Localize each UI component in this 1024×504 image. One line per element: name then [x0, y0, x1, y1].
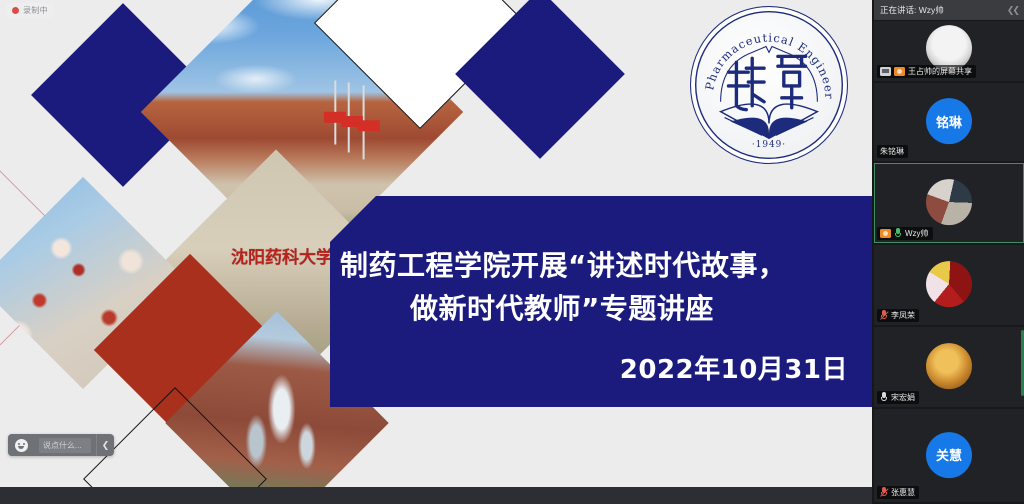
participant-name: 宋宏娟: [891, 392, 915, 403]
screen-share-icon: [880, 67, 891, 76]
participant-tile-songhongjuan[interactable]: 宋宏娟: [874, 327, 1024, 407]
shared-screen-area[interactable]: 沈阳药科大学 制药工程学院开展“讲述时代故事， 做新时代教师”专题讲座: [0, 0, 872, 504]
bottom-toolbar-strip: [0, 487, 872, 504]
participant-name-chip: Wzy帅: [877, 227, 933, 240]
participant-name-chip: 朱铭琳: [877, 145, 908, 158]
microphone-muted-icon: [880, 310, 888, 321]
avatar: [926, 179, 972, 225]
participant-name: 王占帅的屏幕共享: [908, 66, 972, 77]
participant-name-chip: 王占帅的屏幕共享: [877, 65, 976, 78]
participant-name: 张惠慧: [891, 487, 915, 498]
participant-tile-wzy[interactable]: Wzy帅: [874, 163, 1024, 243]
seal-arc-text: Pharmaceutical Engineering College: [691, 7, 836, 100]
host-badge-icon: [894, 67, 905, 76]
participant-tile-zhuminglin[interactable]: 铭琳 朱铭琳: [874, 83, 1024, 161]
participant-name: 李凤荣: [891, 310, 915, 321]
recording-indicator[interactable]: 录制中: [6, 3, 54, 18]
avatar: 关慧: [926, 432, 972, 478]
participant-tile-screenshare[interactable]: 王占帅的屏幕共享: [874, 21, 1024, 81]
participant-name: 朱铭琳: [880, 146, 904, 157]
avatar-initials: 铭琳: [926, 98, 972, 144]
slide-title-line-1: 制药工程学院开展“讲述时代故事，: [340, 244, 786, 284]
participant-name-chip: 李凤荣: [877, 309, 919, 322]
avatar: [926, 261, 972, 307]
participant-tile-lifengrong[interactable]: 李凤荣: [874, 245, 1024, 325]
recording-label: 录制中: [23, 5, 48, 16]
avatar: 铭琳: [926, 98, 972, 144]
college-seal-logo: Pharmaceutical Engineering College: [690, 6, 848, 164]
participant-name: Wzy帅: [905, 228, 929, 239]
participant-tile-zhanghuihui[interactable]: 关慧 张惠慧: [874, 409, 1024, 502]
chevron-left-icon[interactable]: ❮: [96, 434, 114, 456]
chat-input[interactable]: [39, 438, 91, 453]
active-speaker-label: 正在讲话: Wzy帅: [880, 4, 944, 16]
seal-year: ·1949·: [752, 140, 786, 150]
microphone-muted-icon: [880, 487, 888, 498]
participant-sidebar[interactable]: 正在讲话: Wzy帅 ❮❮ 王占帅的屏幕共享 铭琳 朱铭琳: [872, 0, 1024, 504]
seal-artwork: Pharmaceutical Engineering College: [691, 7, 847, 163]
participant-name-chip: 张惠慧: [877, 486, 919, 499]
slide-title-banner: 制药工程学院开展“讲述时代故事， 做新时代教师”专题讲座 2022年10月31日: [330, 196, 872, 407]
presentation-slide: 沈阳药科大学 制药工程学院开展“讲述时代故事， 做新时代教师”专题讲座: [0, 0, 872, 487]
microphone-on-icon: [894, 228, 902, 239]
chevron-collapse-icon[interactable]: ❮❮: [1007, 5, 1018, 16]
meeting-window: 沈阳药科大学 制药工程学院开展“讲述时代故事， 做新时代教师”专题讲座: [0, 0, 1024, 504]
avatar-initials: 关慧: [926, 432, 972, 478]
microphone-off-icon: [880, 392, 888, 403]
record-dot-icon: [12, 7, 19, 14]
avatar: [926, 25, 972, 71]
slide-date: 2022年10月31日: [620, 349, 848, 386]
sign-text: 沈阳药科大学: [231, 243, 333, 268]
avatar: [926, 343, 972, 389]
smiley-icon[interactable]: [8, 434, 34, 456]
active-speaker-bar: 正在讲话: Wzy帅 ❮❮: [874, 0, 1024, 20]
participant-name-chip: 宋宏娟: [877, 391, 919, 404]
slide-canvas: 沈阳药科大学 制药工程学院开展“讲述时代故事， 做新时代教师”专题讲座: [0, 0, 872, 487]
host-badge-icon: [880, 229, 891, 238]
chat-input-bar[interactable]: ❮: [8, 434, 114, 456]
slide-title-line-2: 做新时代教师”专题讲座: [410, 287, 714, 327]
svg-text:Pharmaceutical Engineering Col: Pharmaceutical Engineering College: [691, 7, 836, 100]
